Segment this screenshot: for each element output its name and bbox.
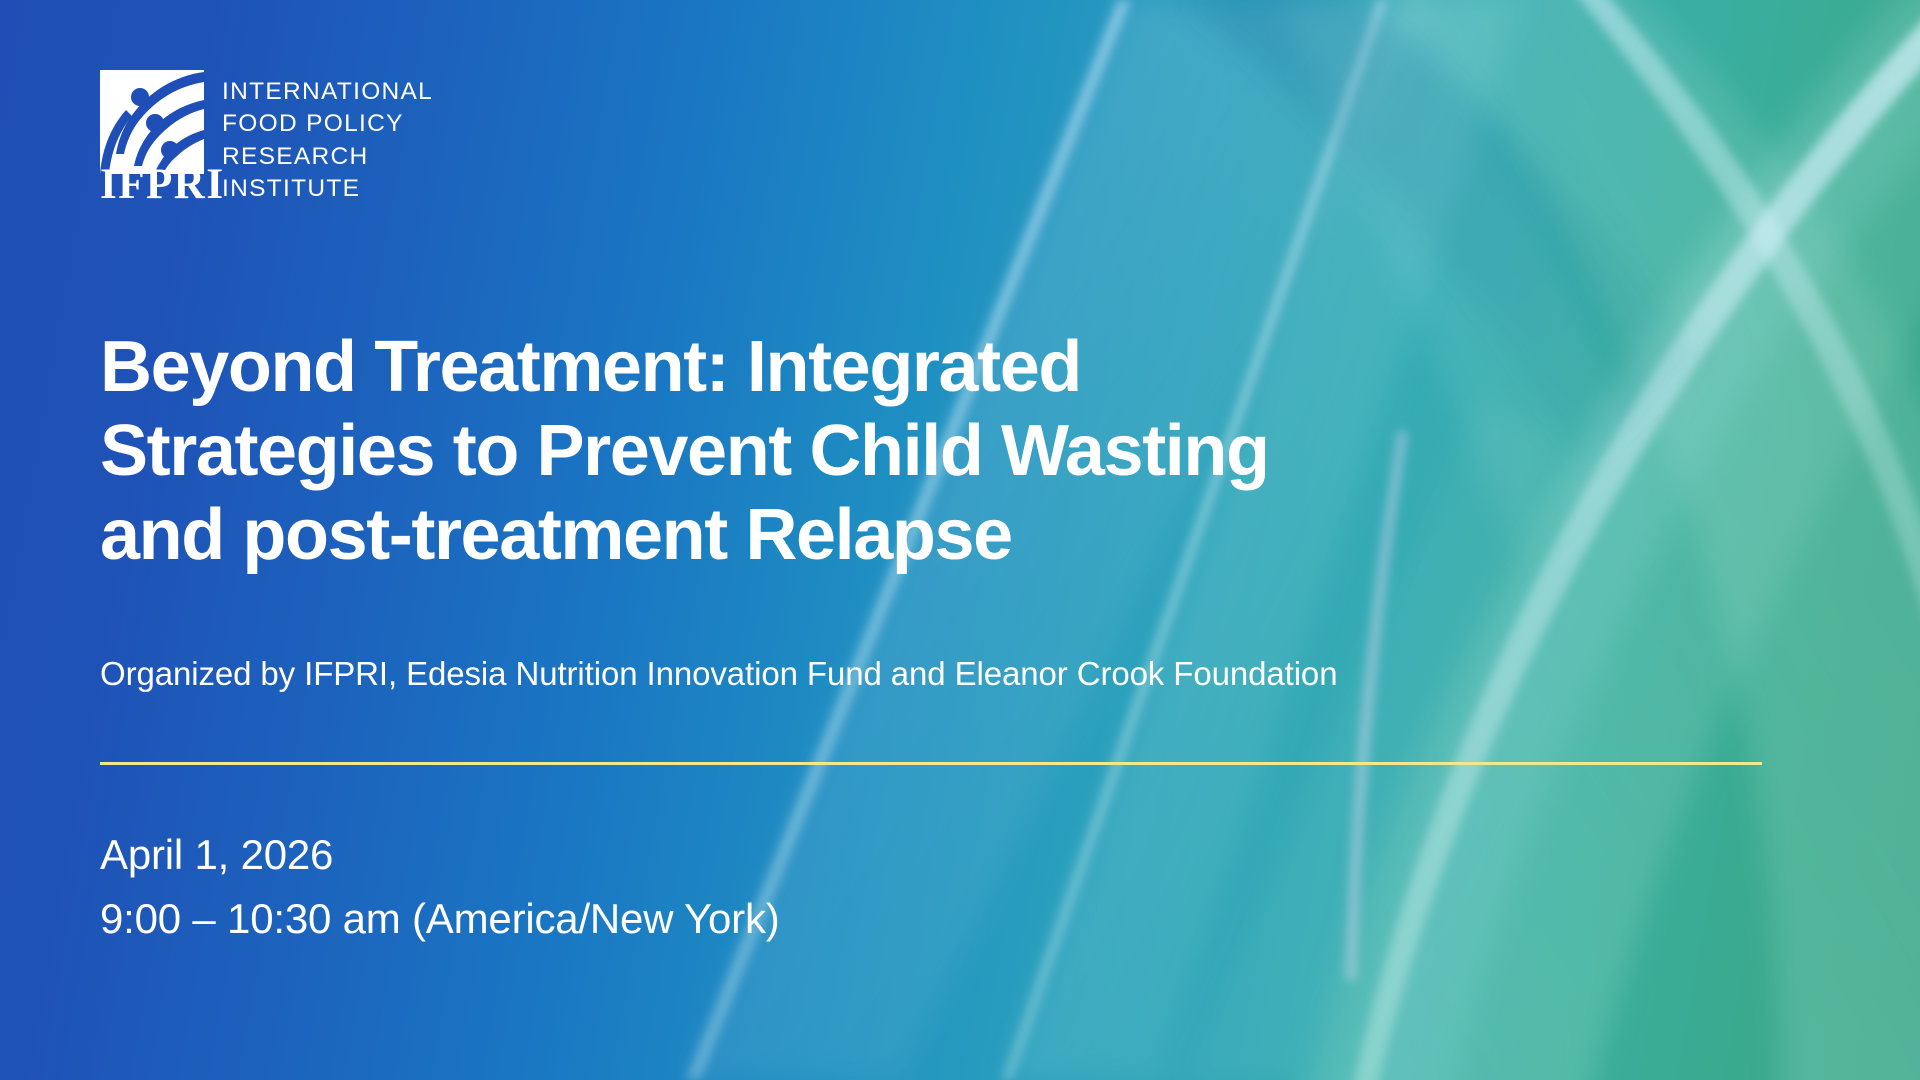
event-banner: IFPRI INTERNATIONAL FOOD POLICY RESEARCH… xyxy=(0,0,1920,1080)
ifpri-logo-mark: IFPRI xyxy=(100,70,204,202)
ifpri-emblem-icon xyxy=(100,70,204,174)
event-title-line-2: Strategies to Prevent Child Wasting xyxy=(100,409,1780,493)
organizers-line: Organized by IFPRI, Edesia Nutrition Inn… xyxy=(100,655,1337,693)
wordmark-line-4: INSTITUTE xyxy=(222,173,433,205)
ifpri-acronym: IFPRI xyxy=(100,163,225,206)
wordmark-line-3: RESEARCH xyxy=(222,141,433,173)
wordmark-line-1: INTERNATIONAL xyxy=(222,76,433,108)
event-date: April 1, 2026 xyxy=(100,823,780,887)
event-time: 9:00 – 10:30 am (America/New York) xyxy=(100,887,780,951)
event-title-line-3: and post-treatment Relapse xyxy=(100,493,1780,577)
wordmark-line-2: FOOD POLICY xyxy=(222,108,433,140)
banner-content: IFPRI INTERNATIONAL FOOD POLICY RESEARCH… xyxy=(100,0,1860,1080)
ifpri-wordmark: INTERNATIONAL FOOD POLICY RESEARCH INSTI… xyxy=(222,70,433,205)
event-title-line-1: Beyond Treatment: Integrated xyxy=(100,325,1780,409)
event-title: Beyond Treatment: Integrated Strategies … xyxy=(100,325,1780,578)
gold-divider xyxy=(100,762,1762,765)
ifpri-logo: IFPRI INTERNATIONAL FOOD POLICY RESEARCH… xyxy=(100,70,433,205)
event-datetime: April 1, 2026 9:00 – 10:30 am (America/N… xyxy=(100,823,780,951)
